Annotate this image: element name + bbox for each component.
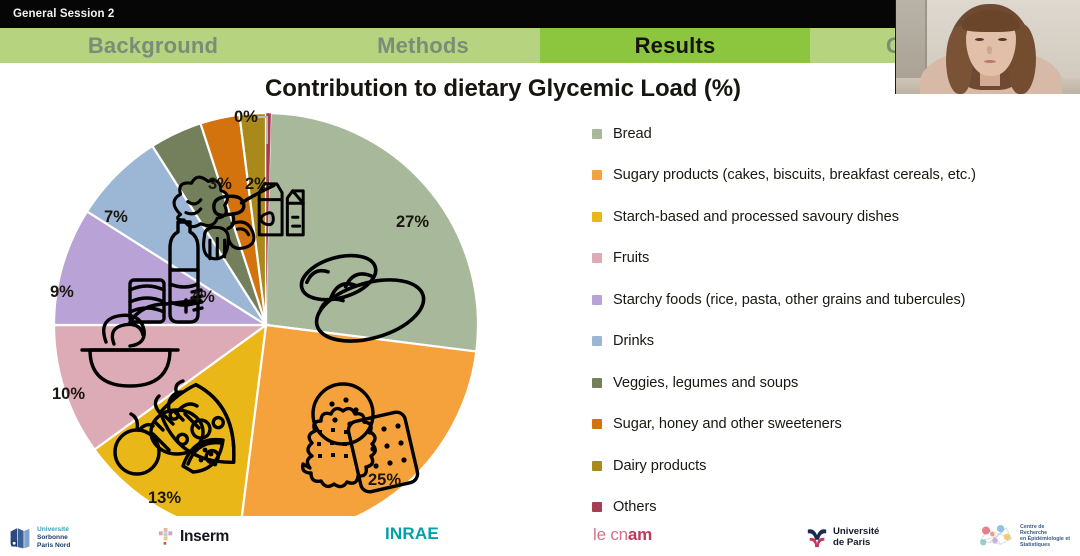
legend-label: Sugary products (cakes, biscuits, breakf… bbox=[613, 167, 976, 183]
legend-item-sugary-products[interactable]: Sugary products (cakes, biscuits, breakf… bbox=[592, 155, 1072, 197]
cnam-logo-text: le cnam bbox=[593, 525, 652, 545]
logo-line-1: Université bbox=[37, 526, 70, 534]
pct-bread: 27% bbox=[396, 213, 429, 232]
tab-results[interactable]: Results bbox=[540, 28, 810, 63]
legend-label: Veggies, legumes and soups bbox=[613, 375, 798, 391]
legend-swatch-icon bbox=[592, 461, 602, 471]
logo-le-cnam: le cnam bbox=[593, 525, 652, 545]
logo-universite-de-paris: Université de Paris bbox=[806, 526, 879, 548]
legend-label: Bread bbox=[613, 126, 652, 142]
legend-swatch-icon bbox=[592, 419, 602, 429]
legend-item-fruits[interactable]: Fruits bbox=[592, 238, 1072, 280]
logo-line-4: Statistiques bbox=[1020, 542, 1070, 548]
chart-title: Contribution to dietary Glycemic Load (%… bbox=[265, 75, 785, 103]
logo-line-2: de Paris bbox=[833, 537, 879, 548]
legend-label: Drinks bbox=[613, 333, 654, 349]
logo-line-2: Sorbonne bbox=[37, 534, 70, 542]
screen-root: General Session 2 Background Methods Res… bbox=[0, 0, 1080, 556]
tab-background[interactable]: Background bbox=[0, 28, 306, 63]
legend-swatch-icon bbox=[592, 378, 602, 388]
inserm-mark-icon bbox=[158, 527, 175, 546]
cnam-text-light: le cn bbox=[593, 525, 628, 544]
legend-label: Starch-based and processed savoury dishe… bbox=[613, 209, 899, 225]
inserm-logo-text: Inserm bbox=[180, 528, 229, 546]
legend-swatch-icon bbox=[592, 336, 602, 346]
pie-slice bbox=[239, 325, 476, 537]
cress-network-icon bbox=[975, 522, 1017, 550]
legend-label: Fruits bbox=[613, 250, 649, 266]
logo-line-1: Université bbox=[833, 526, 879, 537]
webcam-person-eye-left bbox=[975, 38, 984, 41]
inrae-logo-text: INRAE bbox=[385, 524, 439, 544]
others-leader-horizontal bbox=[258, 116, 268, 118]
webcam-video-tile[interactable] bbox=[895, 0, 1080, 94]
pie-slice bbox=[266, 113, 478, 352]
legend-label: Sugar, honey and other sweeteners bbox=[613, 416, 842, 432]
pct-fruits: 10% bbox=[52, 385, 85, 404]
pie-chart: 27% 25% 13% 10% 9% 7% 4% 3% 2% 0% bbox=[36, 108, 506, 548]
legend-item-dairy-products[interactable]: Dairy products bbox=[592, 445, 1072, 487]
legend-swatch-icon bbox=[592, 253, 602, 263]
logo-cress: Centre de Recherche en Épidémiologie et … bbox=[975, 522, 1070, 550]
tab-methods[interactable]: Methods bbox=[306, 28, 540, 63]
webcam-person-eye-right bbox=[998, 38, 1007, 41]
legend-swatch-icon bbox=[592, 212, 602, 222]
chart-legend: Bread Sugary products (cakes, biscuits, … bbox=[592, 113, 1072, 528]
slide-surface: Background Methods Results C Contributio… bbox=[0, 28, 1080, 556]
pct-drinks: 7% bbox=[104, 208, 128, 227]
pct-veggies: 4% bbox=[191, 288, 215, 307]
legend-item-veggies[interactable]: Veggies, legumes and soups bbox=[592, 362, 1072, 404]
universite-de-paris-logo-text: Université de Paris bbox=[833, 526, 879, 548]
legend-swatch-icon bbox=[592, 170, 602, 180]
legend-label: Starchy foods (rice, pasta, other grains… bbox=[613, 292, 966, 308]
legend-swatch-icon bbox=[592, 129, 602, 139]
logo-universite-sorbonne-paris-nord: Université Sorbonne Paris Nord bbox=[8, 525, 70, 551]
legend-label: Dairy products bbox=[613, 458, 706, 474]
universite-de-paris-mark-icon bbox=[806, 526, 828, 548]
legend-swatch-icon bbox=[592, 502, 602, 512]
pct-starch: 13% bbox=[148, 489, 181, 508]
legend-label: Others bbox=[613, 499, 657, 515]
sorbonne-book-icon bbox=[8, 525, 34, 551]
legend-item-starch-based[interactable]: Starch-based and processed savoury dishe… bbox=[592, 196, 1072, 238]
legend-item-sugar-honey[interactable]: Sugar, honey and other sweeteners bbox=[592, 404, 1072, 446]
legend-item-bread[interactable]: Bread bbox=[592, 113, 1072, 155]
others-leader-vertical bbox=[266, 118, 268, 144]
sorbonne-logo-text: Université Sorbonne Paris Nord bbox=[37, 526, 70, 551]
pct-sugar: 3% bbox=[208, 175, 232, 194]
legend-swatch-icon bbox=[592, 295, 602, 305]
logo-inrae: INRAE bbox=[385, 524, 439, 544]
webcam-person-nose bbox=[987, 46, 992, 54]
pie-chart-svg bbox=[36, 108, 506, 548]
pct-others: 0% bbox=[234, 108, 258, 127]
logo-inserm: Inserm bbox=[158, 527, 229, 546]
legend-item-drinks[interactable]: Drinks bbox=[592, 321, 1072, 363]
slide-footer-logos: Université Sorbonne Paris Nord Inserm IN… bbox=[0, 516, 1080, 556]
legend-item-starchy-foods[interactable]: Starchy foods (rice, pasta, other grains… bbox=[592, 279, 1072, 321]
pct-sugary: 25% bbox=[368, 471, 401, 490]
session-title: General Session 2 bbox=[13, 8, 114, 20]
logo-line-3: Paris Nord bbox=[37, 542, 70, 550]
cnam-text-bold: am bbox=[628, 525, 652, 544]
pct-dairy: 2% bbox=[245, 175, 269, 194]
cress-logo-text: Centre de Recherche en Épidémiologie et … bbox=[1020, 524, 1070, 548]
webcam-person-mouth bbox=[984, 60, 996, 63]
pct-starchy: 9% bbox=[50, 283, 74, 302]
